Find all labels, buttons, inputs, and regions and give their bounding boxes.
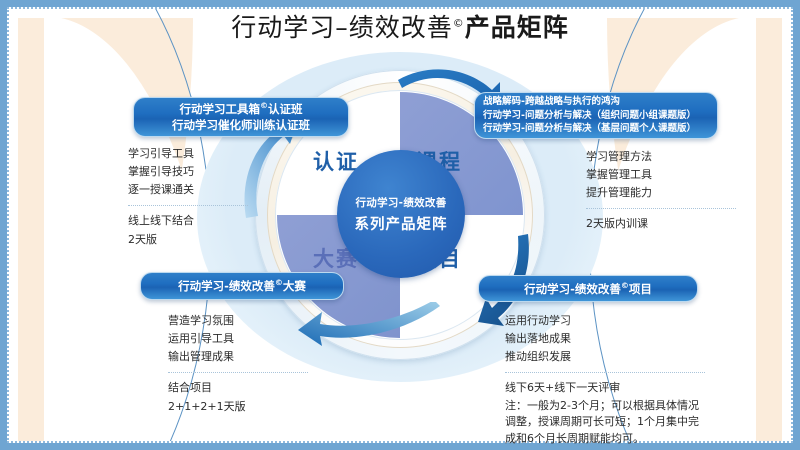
center-line-2: 系列产品矩阵 — [355, 213, 448, 234]
list-item: 学习管理方法 — [586, 148, 736, 166]
list-item: 提升管理能力 — [586, 184, 736, 202]
list-item: 营造学习氛围 — [168, 312, 308, 330]
list-item: 输出落地成果 — [505, 330, 705, 348]
list-item: 线下6天+线下一天评审 — [505, 379, 705, 397]
copyright-icon: © — [275, 278, 283, 287]
list-item: 2天版内训课 — [586, 215, 736, 233]
list-item: 输出管理成果 — [168, 348, 308, 366]
list-item: 逐一授课通关 — [128, 181, 248, 199]
pill-strategy-decoding[interactable]: 战略解码-跨越战略与执行的鸿沟 行动学习-问题分析与解决（组织问题小组课题版） … — [474, 92, 718, 139]
list-item: 推动组织发展 — [505, 348, 705, 366]
pill-contest[interactable]: 行动学习-绩效改善©大赛 — [140, 272, 344, 300]
divider — [586, 208, 736, 209]
text-block-top-right: 学习管理方法 掌握管理工具 提升管理能力 2天版内训课 — [586, 148, 736, 234]
list-item: 2天版 — [128, 231, 248, 249]
text-block-bottom-right: 运用行动学习 输出落地成果 推动组织发展 线下6天+线下一天评审 注：一般为2-… — [505, 312, 705, 447]
footnote: 注：一般为2-3个月；可以根据具体情况调整，授课周期可长可短；1个月集中完成和6… — [505, 398, 705, 448]
pill-tr-line-1: 战略解码-跨越战略与执行的鸿沟 — [483, 95, 620, 109]
list-item: 运用行动学习 — [505, 312, 705, 330]
pill-bl-line-1: 行动学习-绩效改善©大赛 — [178, 277, 306, 295]
list-item: 学习引导工具 — [128, 145, 248, 163]
copyright-icon: © — [453, 17, 465, 30]
pill-br-line-1: 行动学习-绩效改善©项目 — [524, 280, 652, 298]
slide-canvas: 行动学习–绩效改善©产品矩阵 认证 课程 大赛 项目 行动学习-绩效改善 系列产… — [0, 0, 800, 450]
copyright-icon: © — [621, 281, 629, 290]
pill-project[interactable]: 行动学习-绩效改善©项目 — [478, 275, 698, 302]
divider — [128, 205, 248, 206]
list-item: 掌握管理工具 — [586, 166, 736, 184]
page-title: 行动学习–绩效改善©产品矩阵 — [0, 8, 800, 44]
center-hub: 行动学习-绩效改善 系列产品矩阵 — [337, 150, 465, 278]
center-line-1: 行动学习-绩效改善 — [355, 195, 446, 210]
pill-tl-line-1: 行动学习工具箱©认证班 — [180, 100, 303, 118]
text-block-bottom-left: 营造学习氛围 运用引导工具 输出管理成果 结合项目 2+1+2+1天版 — [168, 312, 308, 416]
title-bold: 产品矩阵 — [465, 13, 569, 42]
divider — [505, 372, 705, 373]
list-item: 2+1+2+1天版 — [168, 398, 308, 416]
list-item: 线上线下结合 — [128, 212, 248, 230]
pill-toolbox-certification[interactable]: 行动学习工具箱©认证班 行动学习催化师训练认证班 — [133, 97, 349, 137]
list-item: 运用引导工具 — [168, 330, 308, 348]
title-plain: 行动学习–绩效改善 — [231, 13, 453, 42]
pill-tl-line-2: 行动学习催化师训练认证班 — [172, 117, 310, 134]
arrow-left-bottom-icon — [292, 302, 442, 360]
list-item: 掌握引导技巧 — [128, 163, 248, 181]
pill-tr-line-3: 行动学习-问题分析与解决（基层问题个人课题版） — [483, 122, 696, 136]
pill-tr-line-2: 行动学习-问题分析与解决（组织问题小组课题版） — [483, 109, 696, 123]
text-block-top-left: 学习引导工具 掌握引导技巧 逐一授课通关 线上线下结合 2天版 — [128, 145, 248, 249]
copyright-icon: © — [260, 101, 268, 110]
divider — [168, 372, 308, 373]
list-item: 结合项目 — [168, 379, 308, 397]
